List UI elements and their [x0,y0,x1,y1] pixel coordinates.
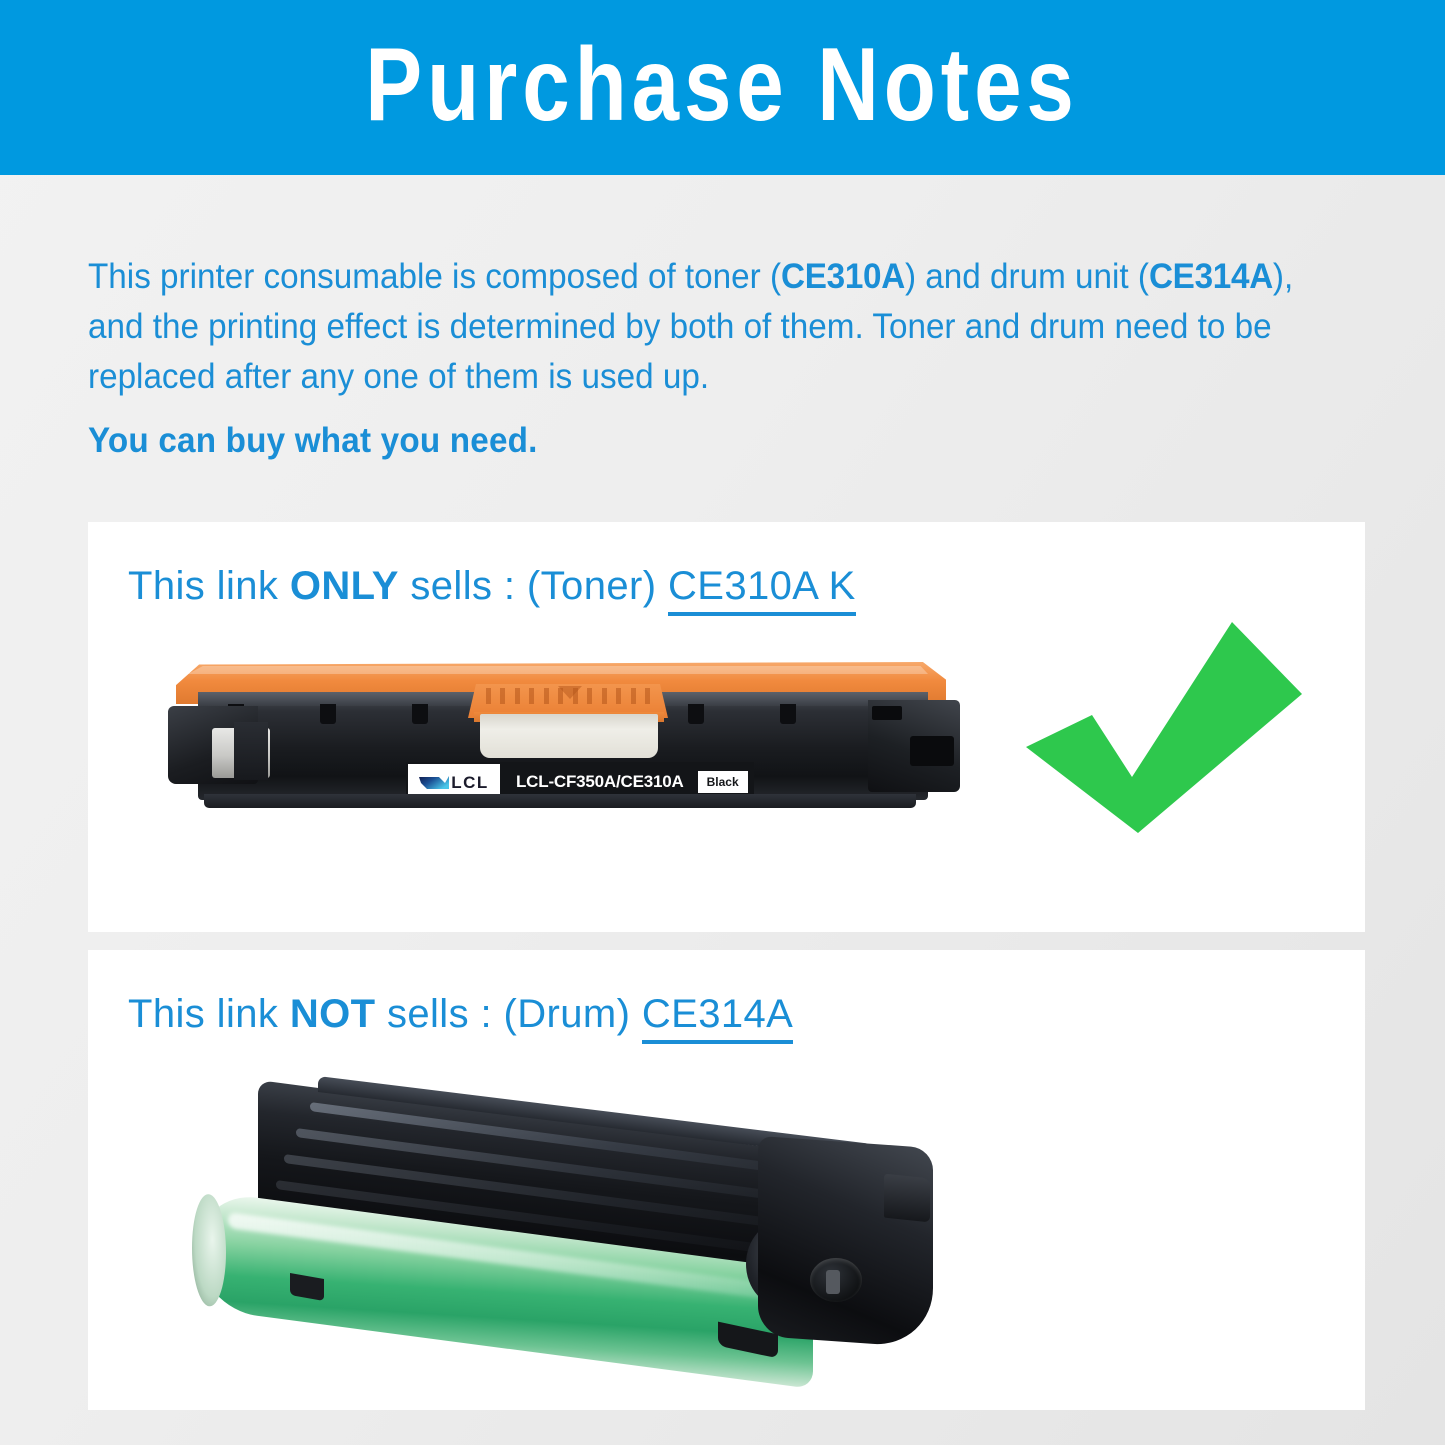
intro-emphasis-line: You can buy what you need. [88,416,1295,466]
intro-text-1: This printer consumable is composed of t… [88,257,781,296]
card-heading-toner: This link ONLY sells : (Toner) CE310A K [128,564,856,608]
toner-cap-highlight [188,666,928,674]
intro-text-3: ( [1138,257,1149,296]
intro-text-2: ) and drum unit [905,257,1129,296]
toner-cream-recess [480,714,658,758]
toner-part-number-label: LCL-CF350A/CE310A [516,772,684,792]
intro-body-text: This printer consumable is composed of t… [88,252,1295,402]
heading-prefix: This link [128,564,290,608]
heading-middle: sells : (Toner) [399,564,668,608]
product-card-toner: This link ONLY sells : (Toner) CE310A K [88,522,1365,932]
toner-clip-tab [320,704,336,724]
grip-rib [529,688,534,704]
toner-left-gear-housing [234,722,268,780]
toner-bottom-base [204,794,916,808]
heading-emphasis-not: NOT [290,992,376,1036]
grip-rib [631,688,636,704]
toner-right-notch [910,736,954,766]
toner-clip-tab [780,704,796,724]
toner-handle-arrow-icon [558,686,582,699]
heading-middle: sells : (Drum) [375,992,641,1036]
grip-rib [616,688,621,704]
toner-right-pin [872,706,902,720]
drum-right-end-cap [758,1136,933,1348]
toner-cartridge-image: LCL LCL-CF350A/CE310A Black [168,662,958,812]
grip-rib [515,688,520,704]
page-header-banner: Purchase Notes [0,0,1445,175]
grip-rib [544,688,549,704]
green-check-svg [1020,608,1310,843]
heading-part-link-ce310a[interactable]: CE310A K [668,564,856,616]
card-heading-drum: This link NOT sells : (Drum) CE314A [128,992,793,1036]
intro-paragraph: This printer consumable is composed of t… [88,252,1295,466]
green-check-icon [1020,608,1310,843]
grip-rib [486,688,491,704]
part-number-ce314a: CE314A [1149,257,1273,296]
grip-rib [500,688,505,704]
part-number-ce310a: CE310A [781,257,905,296]
drum-unit-image [198,1080,928,1380]
heading-part-link-ce314a[interactable]: CE314A [642,992,793,1044]
heading-prefix: This link [128,992,290,1036]
product-card-drum: This link NOT sells : (Drum) CE314A [88,950,1365,1410]
drum-end-cap-tab [884,1174,930,1223]
grip-rib [602,688,607,704]
heading-emphasis-only: ONLY [290,564,399,608]
toner-clip-tab [412,704,428,724]
toner-clip-tab [688,704,704,724]
grip-rib [587,688,592,704]
drum-end-cap-slot [826,1270,840,1294]
lcl-arrow-mark-icon [419,775,449,790]
page-title: Purchase Notes [366,33,1079,143]
lcl-wordmark: LCL [451,774,489,791]
toner-color-badge: Black [698,771,748,793]
grip-rib [645,688,650,704]
